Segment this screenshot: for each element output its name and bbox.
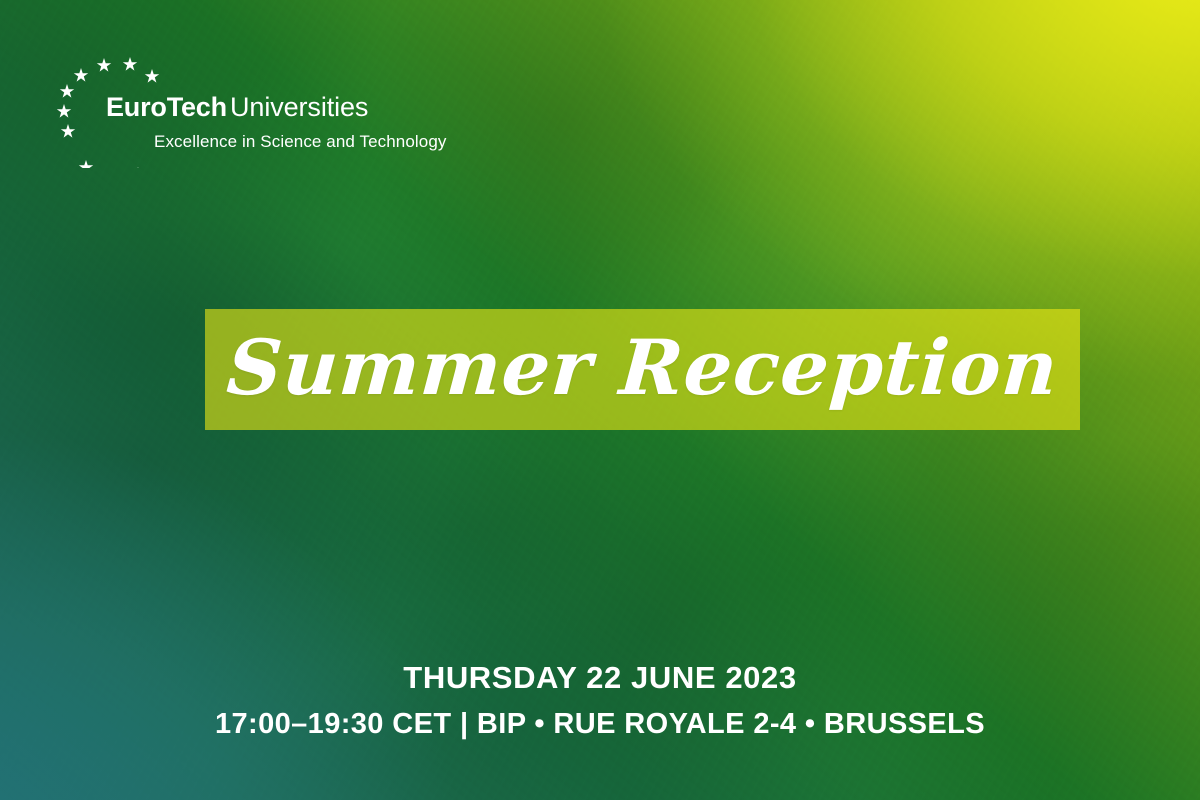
logo-name-bold: EuroTech <box>106 92 227 122</box>
event-poster: EuroTech Universities Excellence in Scie… <box>0 0 1200 800</box>
logo-name-light: Universities <box>230 92 368 122</box>
eurotech-logo: EuroTech Universities Excellence in Scie… <box>34 48 454 168</box>
event-details: THURSDAY 22 JUNE 2023 17:00–19:30 CET | … <box>0 659 1200 742</box>
event-title: Summer Reception <box>224 330 1061 410</box>
title-banner: Summer Reception <box>205 309 1080 430</box>
logo-tagline: Excellence in Science and Technology <box>154 132 447 151</box>
event-date: THURSDAY 22 JUNE 2023 <box>0 659 1200 698</box>
event-venue: 17:00–19:30 CET | BIP • RUE ROYALE 2-4 •… <box>0 706 1200 742</box>
